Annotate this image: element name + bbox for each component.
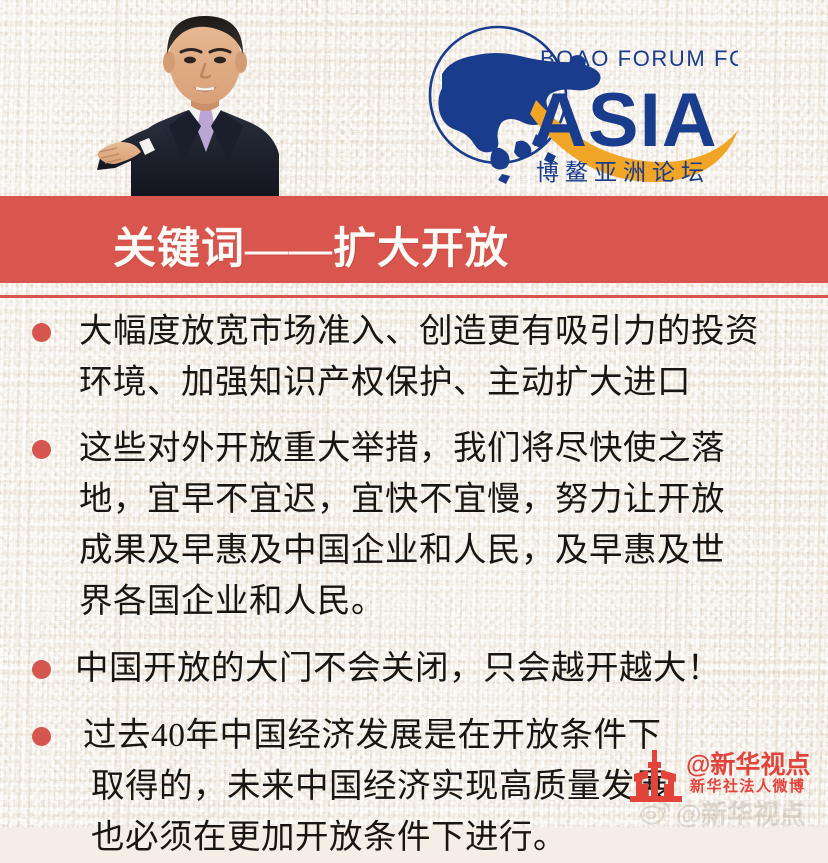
watermark-subtitle: 新华社法人微博 <box>690 775 806 796</box>
watermark-ghost: @新华视点 <box>640 794 805 831</box>
title-banner: 关键词——扩大开放 <box>0 196 828 283</box>
logo-english-text: BOAO FORUM FOR <box>540 46 738 71</box>
bullet-line: 中国开放的大门不会关闭，只会越开越大！ <box>75 643 792 694</box>
bullet-line: 大幅度放宽市场准入、创造更有吸引力的投资 <box>79 306 792 357</box>
watermark-ghost-text: @新华视点 <box>676 794 805 831</box>
list-item: 这些对外开放重大举措，我们将尽快使之落 地，宜早不宜迟，宜快不宜慢，努力让开放 … <box>0 423 828 627</box>
header: BOAO FORUM FOR ASIA 博鳌亚洲论坛 <box>0 0 828 196</box>
divider-rule <box>0 295 828 298</box>
bullet-text: 大幅度放宽市场准入、创造更有吸引力的投资 环境、加强知识产权保护、主动扩大进口 <box>51 306 828 408</box>
bullet-dot-icon <box>32 440 51 459</box>
bullet-text: 这些对外开放重大举措，我们将尽快使之落 地，宜早不宜迟，宜快不宜慢，努力让开放 … <box>51 423 828 627</box>
bullet-line: 界各国企业和人民。 <box>79 576 792 627</box>
watermark: @新华视点 新华社法人微博 @新华视点 <box>628 742 824 824</box>
page-title: 关键词——扩大开放 <box>113 214 509 276</box>
bullet-dot-icon <box>32 660 51 679</box>
bullet-text: 中国开放的大门不会关闭，只会越开越大！ <box>51 643 828 694</box>
list-item: 大幅度放宽市场准入、创造更有吸引力的投资 环境、加强知识产权保护、主动扩大进口 <box>0 306 828 408</box>
bullet-line: 成果及早惠及中国企业和人民，及早惠及世 <box>79 525 792 576</box>
bullet-list: 大幅度放宽市场准入、创造更有吸引力的投资 环境、加强知识产权保护、主动扩大进口 … <box>0 306 828 816</box>
weibo-icon <box>640 800 670 826</box>
bullet-line: 环境、加强知识产权保护、主动扩大进口 <box>79 357 792 408</box>
bullet-line: 这些对外开放重大举措，我们将尽快使之落 <box>79 423 792 474</box>
bullet-line: 地，宜早不宜迟，宜快不宜慢，努力让开放 <box>79 474 792 525</box>
list-item: 中国开放的大门不会关闭，只会越开越大！ <box>0 643 828 694</box>
bullet-dot-icon <box>32 727 51 746</box>
bullet-dot-icon <box>32 323 51 342</box>
boao-forum-logo: BOAO FORUM FOR ASIA 博鳌亚洲论坛 <box>398 22 738 190</box>
logo-wordmark: ASIA <box>532 78 718 163</box>
speaker-portrait <box>97 2 312 196</box>
logo-chinese-text: 博鳌亚洲论坛 <box>536 159 710 185</box>
